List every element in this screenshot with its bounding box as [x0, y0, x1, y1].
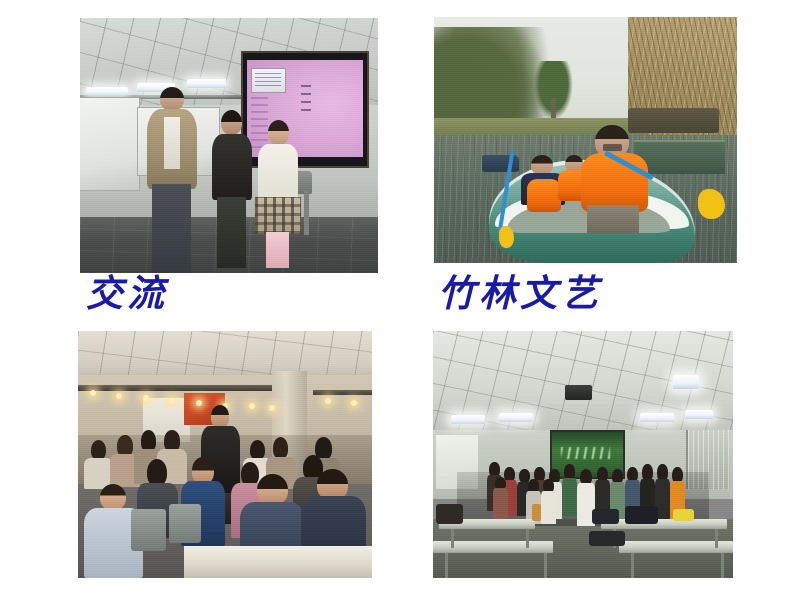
- string-light: [90, 390, 96, 396]
- head: [164, 430, 179, 452]
- string-light: [325, 398, 331, 404]
- chair-back: [131, 509, 166, 551]
- ceiling-light: [640, 413, 674, 422]
- desk-leg: [451, 529, 454, 549]
- torso-dark-top: [212, 134, 252, 200]
- ceiling-light: [685, 410, 713, 419]
- photo-audience-lecture[interactable]: [78, 331, 372, 578]
- head: [91, 440, 106, 461]
- head: [221, 110, 242, 135]
- string-light: [143, 395, 149, 401]
- photo-classroom-presentation[interactable]: [80, 18, 378, 273]
- trousers: [217, 197, 247, 268]
- head: [192, 457, 213, 484]
- student: [541, 479, 556, 523]
- paddle-blade-front: [698, 189, 725, 219]
- ceiling-light: [499, 413, 533, 422]
- head: [268, 120, 289, 145]
- trousers: [587, 205, 639, 233]
- photo-4-scene: [433, 331, 733, 578]
- body: [493, 488, 508, 521]
- string-light: [249, 403, 255, 409]
- head: [250, 440, 265, 461]
- head: [100, 484, 126, 510]
- head: [211, 405, 229, 428]
- bag: [625, 506, 658, 523]
- plaid-skirt: [255, 197, 302, 234]
- photo-3-scene: [78, 331, 372, 578]
- desk-leg: [715, 529, 718, 549]
- desk: [601, 519, 727, 529]
- ceiling-light: [86, 87, 128, 96]
- head: [257, 474, 288, 505]
- chair-back: [169, 504, 201, 544]
- desk-leg: [445, 553, 448, 578]
- bottle: [532, 504, 541, 521]
- slide-canvas: 交流 竹林文艺: [0, 0, 800, 600]
- backpack: [436, 504, 463, 524]
- desk-leg: [544, 553, 547, 578]
- paddler-front: [579, 125, 652, 233]
- photo-canoe-outing[interactable]: [434, 17, 737, 263]
- string-light: [169, 398, 175, 404]
- bag: [589, 531, 625, 546]
- desk-leg: [526, 529, 529, 549]
- caption-bamboo-arts: 竹林文艺: [438, 275, 602, 312]
- photo-2-scene: [434, 17, 737, 263]
- torso-white-top: [258, 144, 299, 200]
- caption-exchange: 交流: [86, 275, 168, 312]
- lighting-truss: [78, 385, 272, 391]
- head: [160, 87, 184, 111]
- head: [117, 435, 132, 457]
- student-standing-center: [208, 110, 256, 268]
- slide-text-block: [301, 85, 310, 112]
- string-light: [116, 393, 122, 399]
- student: [493, 477, 508, 521]
- bag: [592, 509, 619, 524]
- audience-member: [84, 440, 113, 489]
- slide-window-panel: [251, 68, 286, 93]
- student-standing-left: [143, 87, 203, 273]
- front-table: [184, 546, 372, 578]
- life-vest: [581, 153, 648, 211]
- trousers: [152, 184, 191, 273]
- body: [541, 491, 556, 524]
- photo-1-scene: [80, 18, 378, 273]
- ceiling-projector: [565, 385, 592, 400]
- ceiling-light: [673, 375, 699, 389]
- lighting-truss-right: [313, 390, 372, 395]
- yellow-item: [673, 509, 694, 521]
- whiteboard-left: [80, 97, 140, 191]
- head: [273, 437, 288, 459]
- shirt: [164, 117, 179, 169]
- head: [141, 430, 156, 452]
- legs-boots: [266, 232, 289, 267]
- glasses: [603, 144, 622, 152]
- desk-leg: [631, 553, 634, 578]
- ceiling-light: [451, 415, 485, 424]
- desk-leg: [721, 553, 724, 578]
- body: [562, 478, 577, 516]
- student-standing-right: [253, 120, 304, 268]
- paddle-blade-rear: [499, 226, 514, 248]
- student: [562, 464, 577, 516]
- photo-class-group[interactable]: [433, 331, 733, 578]
- head: [317, 469, 348, 499]
